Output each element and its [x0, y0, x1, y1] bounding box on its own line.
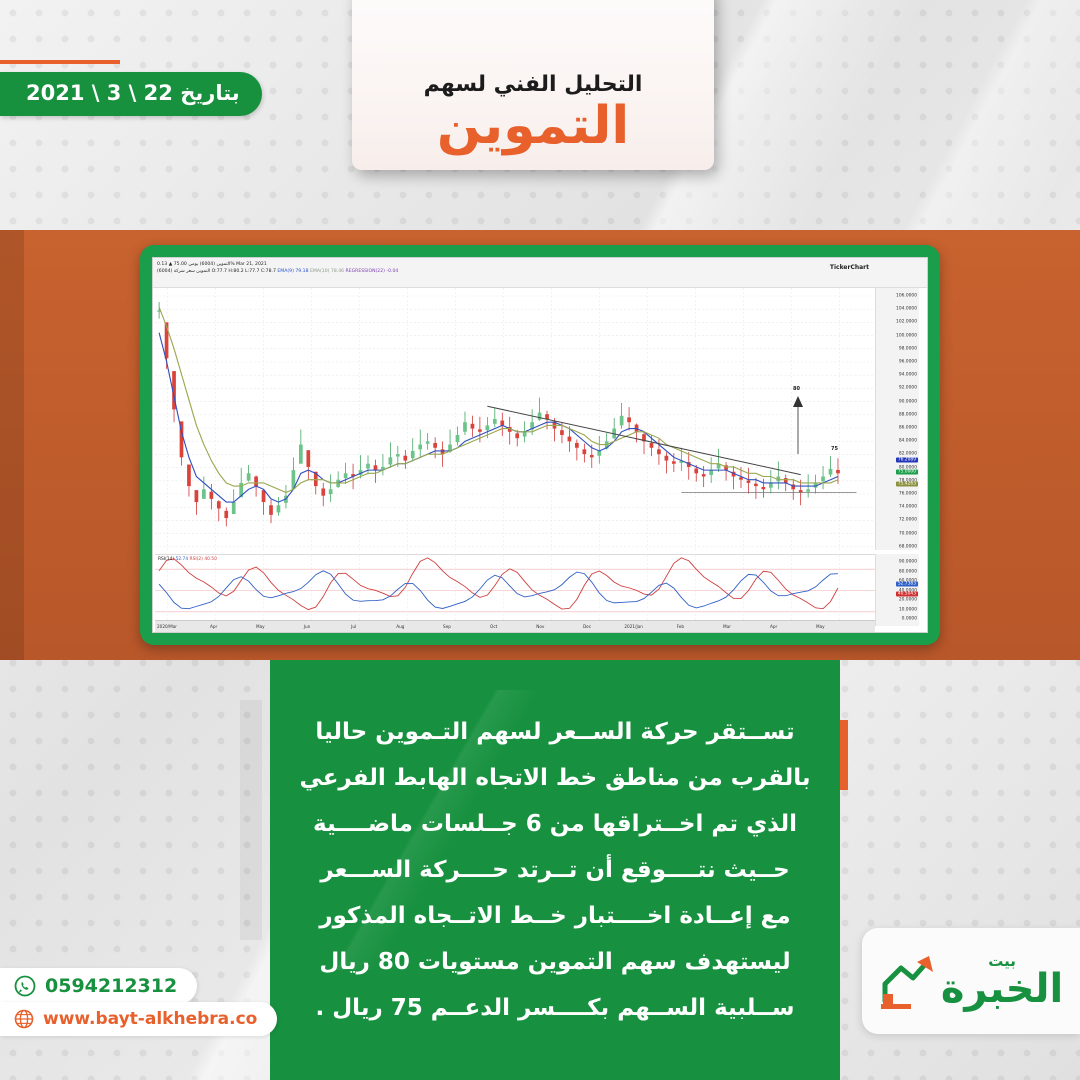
rsi-box-blue: 52.7383 — [896, 582, 918, 587]
chart-header: التموين (6004) يومي 75.00 ▲ 0.13% Mar 21… — [153, 258, 927, 288]
price-plot-area[interactable] — [155, 288, 875, 550]
ema10-label: EMA(10) — [310, 269, 329, 274]
rsi-y-tick: 80.0000 — [899, 569, 917, 574]
analysis-line: مع إعــادة اخــــتبار خــط الاتــجاه الم… — [299, 893, 810, 939]
page-subtitle: التحليل الفني لسهم — [424, 73, 643, 97]
price-box-green: 75.0000 — [896, 470, 918, 475]
rsi14-value: 40.50 — [204, 557, 217, 562]
panel-orange-accent — [840, 720, 848, 790]
x-tick: Mar — [723, 624, 731, 629]
price-y-tick: 92.0000 — [899, 386, 917, 391]
tickerchart-logo: TickerChart — [830, 264, 869, 271]
analysis-line: حــيث نتــــوقع أن تــرتد حــــركة الســ… — [299, 847, 810, 893]
x-tick: Jul — [351, 624, 356, 629]
regression-label: REGRESSION(22) — [346, 269, 385, 274]
analysis-line: ليستهدف سهم التموين مستويات 80 ريال — [299, 939, 810, 985]
rsi-y-tick: 20.0000 — [899, 598, 917, 603]
x-tick: Feb — [677, 624, 684, 629]
analysis-line: الذي تم اخــتراقها من 6 جــلسات ماضــــي… — [299, 801, 810, 847]
price-box-blue: 76.2089 — [896, 458, 918, 463]
annotation-support-75: 75 — [831, 446, 838, 452]
price-chart-svg — [155, 288, 875, 550]
annotation-target-80: 80 — [793, 386, 800, 392]
rsi-y-tick: 10.0000 — [899, 607, 917, 612]
chart-ohlc-text: التموين سعر شركة (6004) O:77.7 H:80.2 L:… — [157, 269, 276, 274]
price-y-tick: 96.0000 — [899, 360, 917, 365]
band-left-notch — [0, 230, 24, 660]
price-y-tick: 94.0000 — [899, 373, 917, 378]
panel-side-accent — [240, 700, 262, 940]
price-y-tick: 104.0000 — [896, 307, 917, 312]
brand-logo-text: بيت الخبرة — [941, 954, 1063, 1009]
rsi14-label: RSI(14) — [158, 557, 174, 562]
price-y-tick: 106.0000 — [896, 294, 917, 299]
regression-value: -0.04 — [386, 269, 398, 274]
price-y-tick: 68.0000 — [899, 544, 917, 549]
page-title: التموين — [437, 99, 629, 154]
ema9-label: EMA(9) — [277, 269, 294, 274]
x-tick: May — [256, 624, 265, 629]
x-tick: Aug — [396, 624, 404, 629]
rsi-y-tick: 0.0000 — [902, 617, 917, 622]
rsi-y-axis: 90.000080.000060.000040.000020.000010.00… — [875, 554, 919, 626]
chart-widget[interactable]: التموين (6004) يومي 75.00 ▲ 0.13% Mar 21… — [152, 257, 928, 633]
x-tick: Apr — [770, 624, 777, 629]
chart-indicator-line: التموين سعر شركة (6004) O:77.7 H:80.2 L:… — [157, 268, 923, 275]
rsi-plot-area[interactable]: RSI(14) 52.74 RSI(2) 40.50 — [155, 554, 875, 626]
title-card: التحليل الفني لسهم التموين — [352, 0, 714, 170]
price-y-tick: 76.0000 — [899, 492, 917, 497]
contact-phone-pill[interactable]: 0594212312 — [0, 968, 197, 1004]
x-tick: 2021/Jan — [624, 624, 643, 629]
globe-icon — [14, 1009, 34, 1029]
x-tick: Sep — [443, 624, 451, 629]
analysis-line: بالقرب من مناطق خط الاتجاه الهابط الفرعي — [299, 755, 810, 801]
price-y-tick: 84.0000 — [899, 439, 917, 444]
x-tick: Jun — [304, 624, 311, 629]
growth-arrow-house-icon — [879, 950, 935, 1012]
price-y-tick: 88.0000 — [899, 412, 917, 417]
price-box-olive: 75.4263 — [896, 482, 918, 487]
price-y-tick: 102.0000 — [896, 320, 917, 325]
price-y-tick: 74.0000 — [899, 505, 917, 510]
rsi2-label: RSI(2) — [190, 557, 203, 562]
target-arrow-icon — [789, 394, 807, 456]
price-y-tick: 98.0000 — [899, 346, 917, 351]
price-y-tick: 86.0000 — [899, 426, 917, 431]
price-y-tick: 90.0000 — [899, 399, 917, 404]
x-tick: Nov — [536, 624, 544, 629]
x-tick: Apr — [210, 624, 217, 629]
contact-website-pill[interactable]: www.bayt-alkhebra.co — [0, 1002, 277, 1036]
rsi-y-tick: 90.0000 — [899, 560, 917, 565]
price-y-axis: 106.0000104.0000102.0000100.000098.00009… — [875, 288, 919, 550]
x-tick: Dec — [583, 624, 591, 629]
date-badge: بتاريخ 22 \ 3 \ 2021 — [0, 72, 262, 116]
whatsapp-icon — [14, 975, 36, 997]
price-y-tick: 70.0000 — [899, 531, 917, 536]
rsi2-value: 52.74 — [176, 557, 189, 562]
price-y-tick: 82.0000 — [899, 452, 917, 457]
x-tick: 2020/Mar — [157, 624, 177, 629]
rsi-box-red: 40.5043 — [896, 592, 918, 597]
chart-frame: التموين (6004) يومي 75.00 ▲ 0.13% Mar 21… — [140, 245, 940, 645]
chart-quote-line: التموين (6004) يومي 75.00 ▲ 0.13% Mar 21… — [157, 261, 923, 268]
website-url: www.bayt-alkhebra.co — [43, 1009, 257, 1029]
price-y-tick: 100.0000 — [896, 333, 917, 338]
ema10-value: 78.46 — [331, 269, 344, 274]
phone-number: 0594212312 — [45, 975, 177, 997]
rsi-chart-svg — [155, 555, 875, 626]
ema9-value: 79.18 — [295, 269, 308, 274]
analysis-line: ســلبية الســهم بكــــسر الدعــم 75 ريال… — [299, 985, 810, 1031]
logo-khebra-word: الخبرة — [941, 969, 1063, 1009]
analysis-line: تســتقر حركة الســعر لسهم التـموين حاليا — [299, 709, 810, 755]
analysis-panel: تســتقر حركة الســعر لسهم التـموين حاليا… — [270, 660, 840, 1080]
brand-logo-card[interactable]: بيت الخبرة — [862, 928, 1080, 1034]
rsi-legend: RSI(14) 52.74 RSI(2) 40.50 — [158, 557, 217, 562]
x-tick: May — [816, 624, 825, 629]
chart-x-axis: 2020/MarAprMayJunJulAugSepOctNovDec2021/… — [155, 620, 875, 632]
price-y-tick: 72.0000 — [899, 518, 917, 523]
analysis-text: تســتقر حركة الســعر لسهم التـموين حاليا… — [275, 709, 834, 1031]
x-tick: Oct — [490, 624, 497, 629]
date-rule-divider — [0, 60, 120, 64]
